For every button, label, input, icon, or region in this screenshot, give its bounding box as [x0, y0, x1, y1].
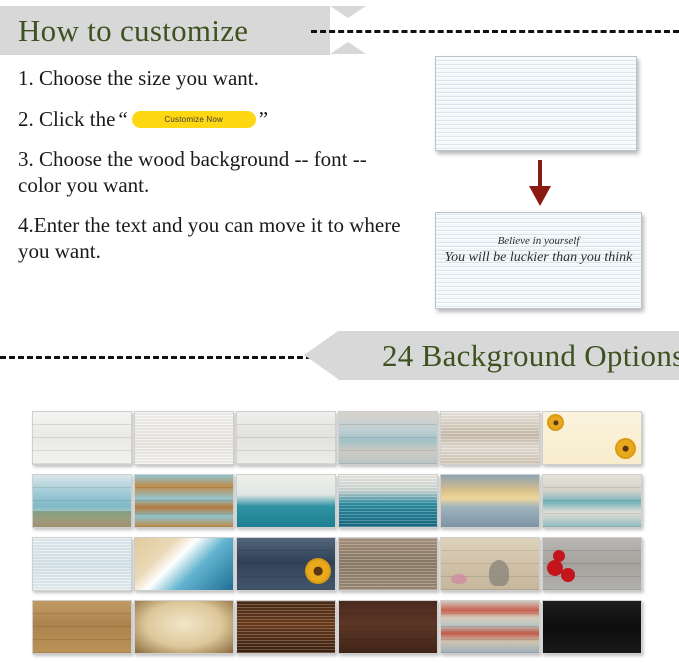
banner-bottom-tip-shape — [304, 331, 338, 379]
thumbnail-grain-overlay — [135, 475, 233, 527]
step-2-prefix: 2. Click the — [18, 107, 115, 133]
step-4: 4.Enter the text and you can move it to … — [18, 213, 408, 264]
banner-background-options: 24 Background Options — [338, 331, 679, 380]
background-thumbnail-white-washed-plank[interactable] — [32, 411, 132, 465]
dashed-connector-top — [311, 30, 679, 33]
thumbnail-grain-overlay — [441, 601, 539, 653]
buddha-statue-shape — [489, 560, 509, 586]
background-thumbnail-teal-white-weathered-plank[interactable] — [542, 474, 642, 528]
thumbnail-grain-overlay — [339, 412, 437, 464]
coral-reef-shape — [33, 511, 131, 527]
background-thumbnail-beige-parchment-vignette[interactable] — [134, 600, 234, 654]
background-thumbnail-navy-plank-sunflower[interactable] — [236, 537, 336, 591]
background-row — [32, 600, 656, 654]
thumbnail-grain-overlay — [33, 412, 131, 464]
thumbnail-grain-overlay — [543, 601, 641, 653]
thumbnail-grain-overlay — [33, 601, 131, 653]
background-thumbnail-pale-blue-wood[interactable] — [32, 537, 132, 591]
thumbnail-texture — [237, 475, 335, 527]
background-row — [32, 411, 656, 465]
background-thumbnail-golden-sunset-seascape[interactable] — [440, 474, 540, 528]
thumbnail-grain-overlay — [339, 601, 437, 653]
customize-now-button[interactable]: Customize Now — [132, 111, 256, 128]
background-thumbnail-teal-ocean-wash[interactable] — [338, 474, 438, 528]
background-thumbnail-distressed-white-wood[interactable] — [236, 411, 336, 465]
thumbnail-grain-overlay — [339, 475, 437, 527]
step-2-open-quote: “ — [118, 107, 127, 133]
thumbnail-texture — [135, 538, 233, 590]
sign-caption-line-1: Believe in yourself — [436, 235, 641, 247]
down-arrow-icon — [529, 160, 551, 206]
step-3: 3. Choose the wood background -- font --… — [18, 147, 408, 198]
background-thumbnail-rustic-teal-orange-plank[interactable] — [134, 474, 234, 528]
thumbnail-grain-overlay — [135, 412, 233, 464]
poppy-flower-shape — [553, 550, 565, 562]
dashed-connector-bottom — [0, 356, 312, 359]
background-thumbnail-cream-sunflower[interactable] — [542, 411, 642, 465]
background-thumbnail-beach-wave-aerial[interactable] — [134, 537, 234, 591]
background-thumbnail-teal-white-splash[interactable] — [236, 474, 336, 528]
thumbnail-grain-overlay — [339, 538, 437, 590]
banner-how-to-customize: How to customize — [0, 6, 330, 55]
background-thumbnail-black-chalkboard-wood[interactable] — [542, 600, 642, 654]
lotus-flower-shape — [451, 574, 467, 584]
thumbnail-grain-overlay — [441, 412, 539, 464]
blank-sign-texture — [436, 57, 636, 150]
banner-top-title: How to customize — [0, 15, 248, 46]
sunflower-icon — [549, 416, 562, 429]
poppy-flower-shape — [561, 568, 575, 582]
background-thumbnail-dark-red-brown-plank[interactable] — [338, 600, 438, 654]
background-thumbnail-gray-wood-red-poppies[interactable] — [542, 537, 642, 591]
background-options-grid — [32, 411, 656, 663]
demo-blank-sign — [435, 56, 637, 151]
thumbnail-texture — [441, 475, 539, 527]
instruction-list: 1. Choose the size you want. 2. Click th… — [18, 66, 408, 280]
background-thumbnail-coral-reef-underwater[interactable] — [32, 474, 132, 528]
background-thumbnail-weathered-brown-white-wood[interactable] — [440, 411, 540, 465]
thumbnail-grain-overlay — [33, 538, 131, 590]
background-thumbnail-gray-brown-wood[interactable] — [338, 537, 438, 591]
demo-text-sign: Believe in yourself You will be luckier … — [435, 212, 642, 309]
sign-caption-line-2: You will be luckier than you think — [436, 250, 641, 266]
background-thumbnail-teal-gray-plank-mosaic[interactable] — [338, 411, 438, 465]
background-thumbnail-multicolor-striped-plank[interactable] — [440, 600, 540, 654]
thumbnail-grain-overlay — [237, 412, 335, 464]
step-1: 1. Choose the size you want. — [18, 66, 408, 92]
thumbnail-grain-overlay — [237, 601, 335, 653]
step-2-close-quote: ” — [259, 107, 268, 133]
infographic-canvas: How to customize 1. Choose the size you … — [0, 0, 679, 642]
background-thumbnail-cream-white-wood[interactable] — [134, 411, 234, 465]
thumbnail-grain-overlay — [543, 475, 641, 527]
sunflower-icon — [307, 560, 329, 582]
thumbnail-texture — [135, 601, 233, 653]
background-thumbnail-light-brown-plank[interactable] — [32, 600, 132, 654]
background-thumbnail-dark-brown-textured-wood[interactable] — [236, 600, 336, 654]
background-row — [32, 474, 656, 528]
sunflower-icon — [617, 440, 634, 457]
background-thumbnail-buddha-zen-wood[interactable] — [440, 537, 540, 591]
banner-bottom-title: 24 Background Options — [338, 340, 679, 371]
background-row — [32, 537, 656, 591]
step-2: 2. Click the “ Customize Now ” — [18, 107, 408, 133]
sign-caption: Believe in yourself You will be luckier … — [436, 235, 641, 266]
